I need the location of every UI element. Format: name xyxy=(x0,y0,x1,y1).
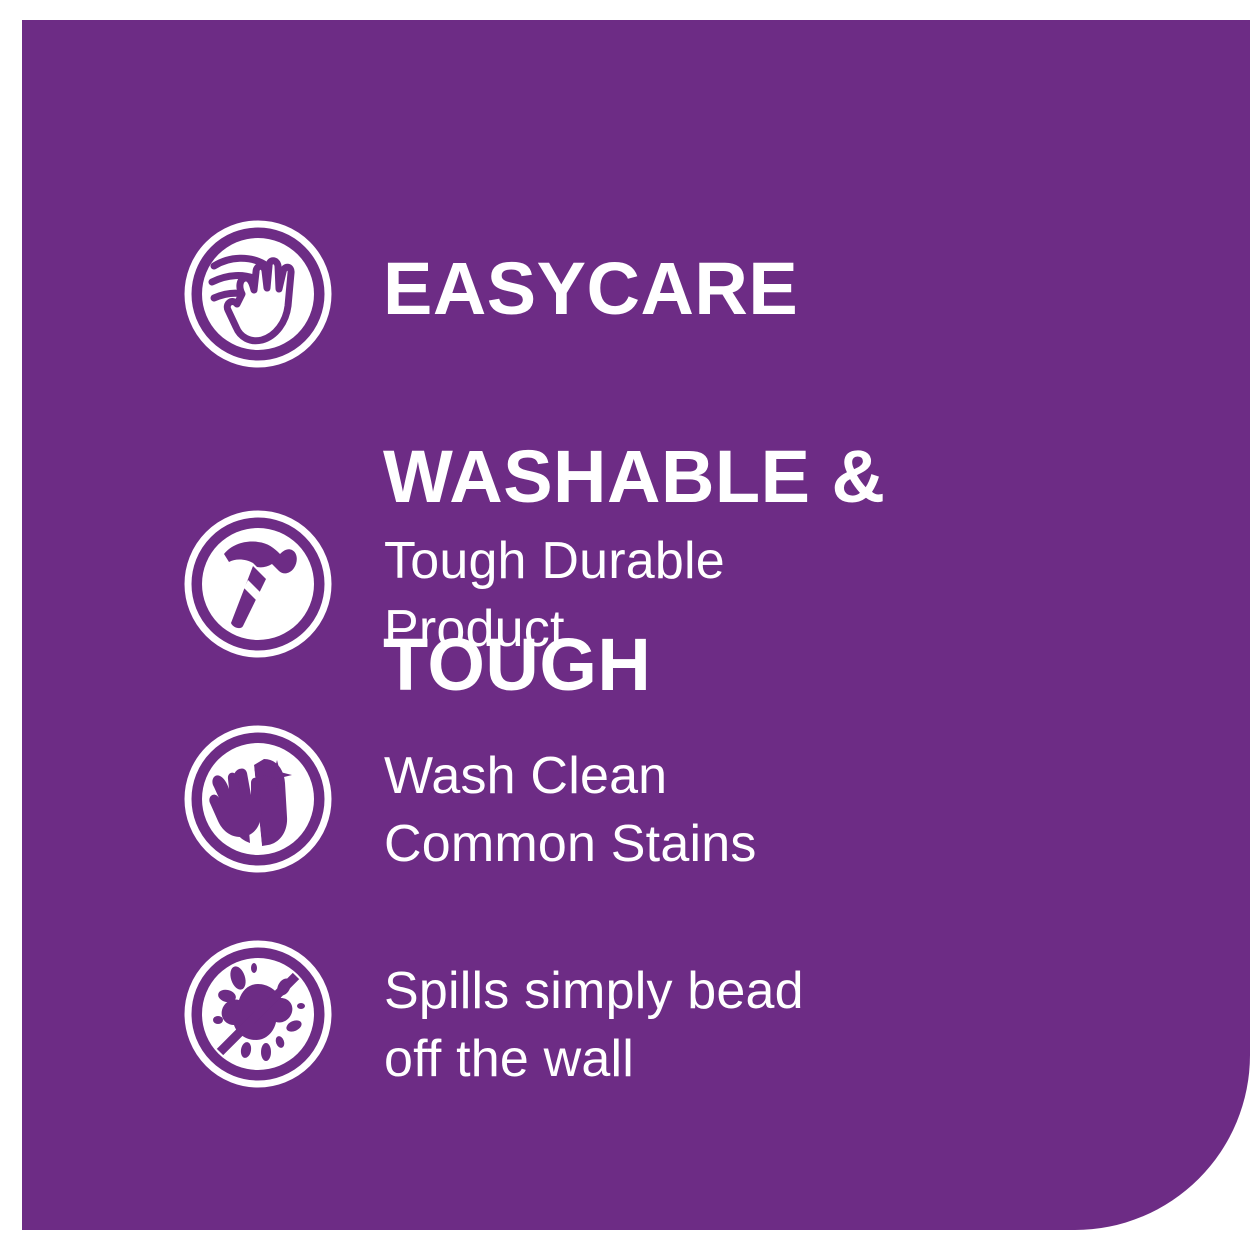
page-title: EASYCARE WASHABLE & TOUGH xyxy=(383,148,1103,806)
washing-hand-icon xyxy=(184,220,332,368)
feature-label: Wash Clean Common Stains xyxy=(384,725,1104,878)
hand-wiping-sparkle-icon xyxy=(184,725,332,873)
headline-line-1: EASYCARE xyxy=(383,242,1103,336)
promo-panel: EASYCARE WASHABLE & TOUGH Tough Durable … xyxy=(22,20,1250,1230)
feature-label: Tough Durable Product xyxy=(384,510,1104,663)
feature-row: Tough Durable Product xyxy=(184,510,1104,663)
feature-row: Spills simply bead off the wall xyxy=(184,940,1104,1093)
feature-label: Spills simply bead off the wall xyxy=(384,940,1104,1093)
hammer-icon xyxy=(184,510,332,658)
no-stain-splatter-icon xyxy=(184,940,332,1088)
feature-row: Wash Clean Common Stains xyxy=(184,725,1104,878)
